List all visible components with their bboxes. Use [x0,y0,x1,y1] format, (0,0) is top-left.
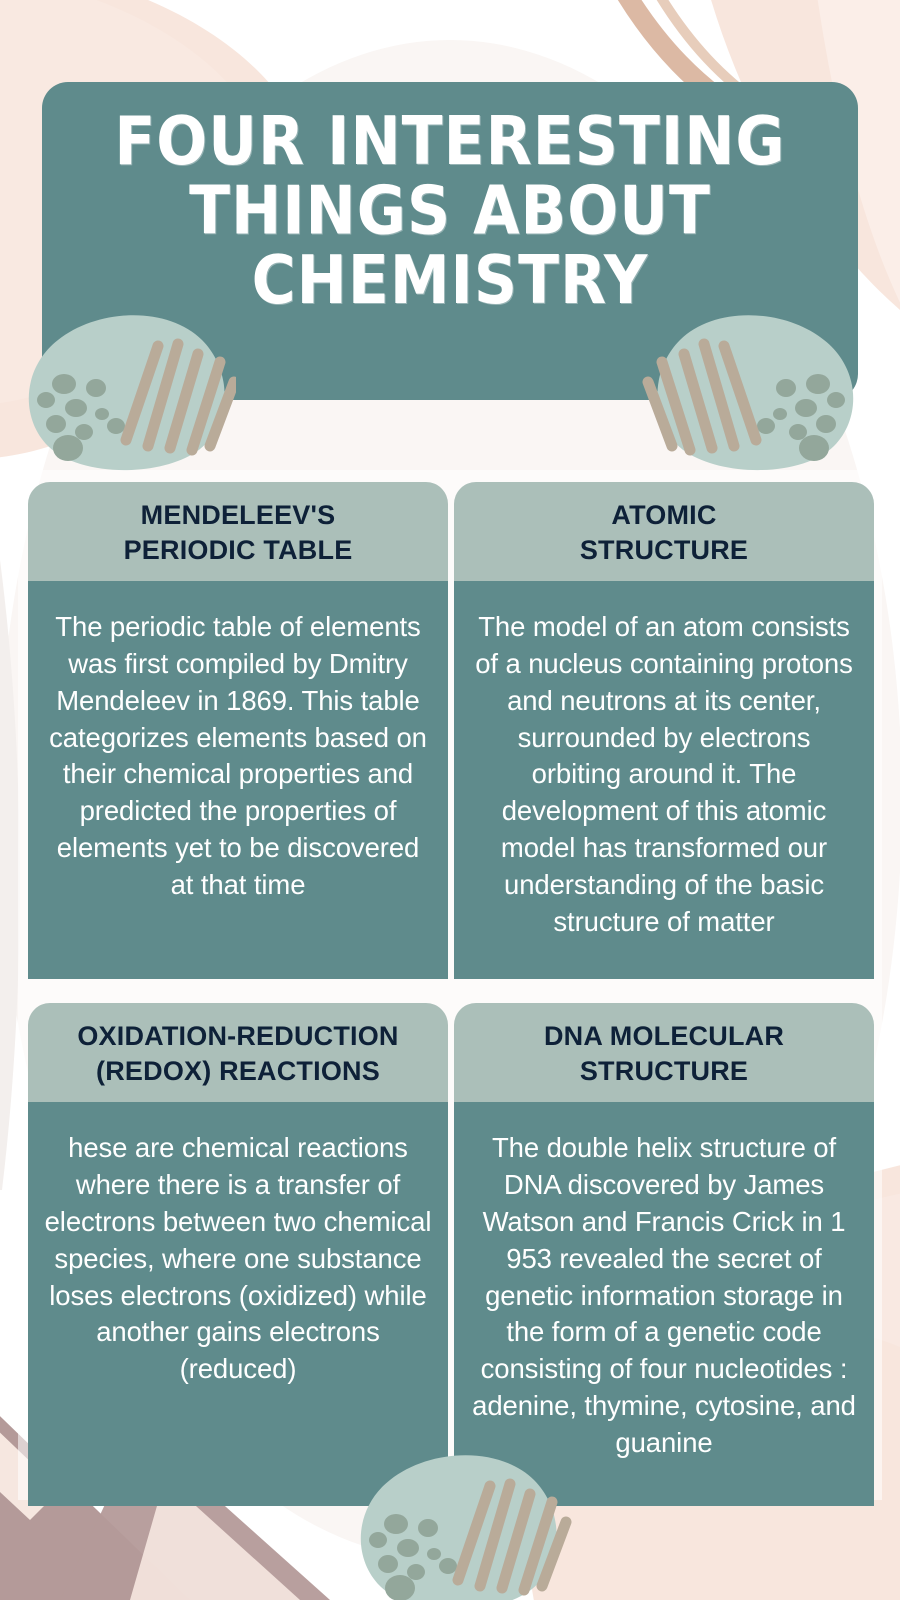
card-body-text: The double helix structure of DNA discov… [470,1130,858,1462]
card-title: MENDELEEV'S PERIODIC TABLE [42,498,434,567]
card-body-panel: hese are chemical reactions where there … [28,1102,448,1506]
card-body-text: The periodic table of elements was first… [44,609,432,904]
fact-card-mendeleevs-periodic-table[interactable]: MENDELEEV'S PERIODIC TABLE The periodic … [28,482,448,979]
title-line-3: CHEMISTRY [76,246,824,315]
card-body-text: hese are chemical reactions where there … [44,1130,432,1388]
card-body-panel: The double helix structure of DNA discov… [454,1102,874,1506]
fact-card-oxidation-reduction-redox-reactions[interactable]: OXIDATION-REDUCTION (REDOX) REACTIONS he… [28,1003,448,1506]
card-header-band: ATOMIC STRUCTURE [454,482,874,581]
card-body-panel: The model of an atom consists of a nucle… [454,581,874,979]
card-title: ATOMIC STRUCTURE [468,498,860,567]
title-line-1: FOUR INTERESTING [76,108,824,177]
card-header-band: MENDELEEV'S PERIODIC TABLE [28,482,448,581]
card-body-text: The model of an atom consists of a nucle… [470,609,858,941]
fact-card-atomic-structure[interactable]: ATOMIC STRUCTURE The model of an atom co… [454,482,874,979]
card-header-band: DNA MOLECULAR STRUCTURE [454,1003,874,1102]
fact-card-dna-molecular-structure[interactable]: DNA MOLECULAR STRUCTURE The double helix… [454,1003,874,1506]
card-title: DNA MOLECULAR STRUCTURE [468,1019,860,1088]
page-title: FOUR INTERESTING THINGS ABOUT CHEMISTRY [42,108,858,316]
title-banner: FOUR INTERESTING THINGS ABOUT CHEMISTRY [42,82,858,400]
facts-card-grid: MENDELEEV'S PERIODIC TABLE The periodic … [28,482,874,1506]
card-title: OXIDATION-REDUCTION (REDOX) REACTIONS [42,1019,434,1088]
infographic-poster: FOUR INTERESTING THINGS ABOUT CHEMISTRY [0,0,900,1600]
card-header-band: OXIDATION-REDUCTION (REDOX) REACTIONS [28,1003,448,1102]
card-body-panel: The periodic table of elements was first… [28,581,448,979]
title-line-2: THINGS ABOUT [76,177,824,246]
